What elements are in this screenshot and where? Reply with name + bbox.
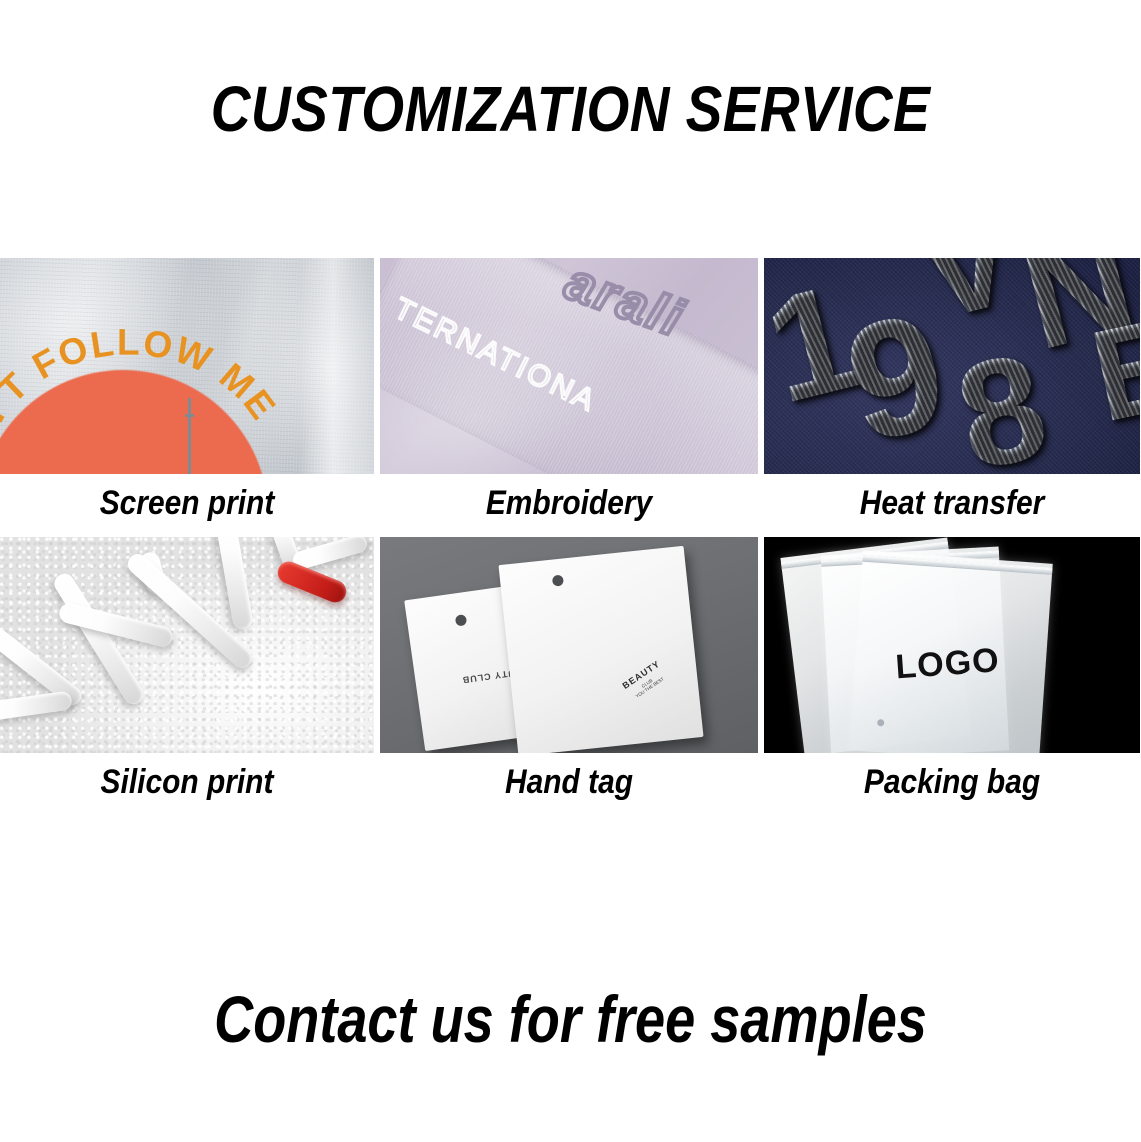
caption-packing-bag: Packing bag [787, 753, 1118, 816]
page-title: CUSTOMIZATION SERVICE [80, 76, 1061, 143]
arced-print-text: N'T FOLLOW ME [0, 310, 280, 470]
caption-embroidery: Embroidery [403, 474, 736, 537]
packing-bag-photo: LOGO [764, 537, 1140, 753]
bag-logo-text: LOGO [894, 641, 1001, 687]
caption-screen-print: Screen print [22, 474, 351, 537]
gallery-item-embroidery[interactable]: TERNATIONA arali Embroidery [380, 258, 758, 537]
footer-cta: Contact us for free samples [103, 985, 1039, 1054]
embroidered-lettering: TERNATIONA arali [380, 258, 758, 474]
embroidery-photo: TERNATIONA arali [380, 258, 758, 474]
fabric-highlight [300, 258, 374, 474]
heat-transfer-photo: V N E 1 9 8 [764, 258, 1140, 474]
gallery-item-screen-print[interactable]: N'T FOLLOW ME Screen print [0, 258, 374, 537]
hang-tag-front: BEAUTY CLUB YOU THE BEST [498, 546, 703, 753]
gallery-item-packing-bag[interactable]: LOGO Packing bag [764, 537, 1140, 816]
gallery-item-hand-tag[interactable]: BEAUTY CLUB BEAUTY CLUB YOU THE BEST Han… [380, 537, 758, 816]
caption-silicon-print: Silicon print [22, 753, 351, 816]
terry-loop-texture [0, 537, 374, 753]
bag-vent-hole-icon [877, 719, 884, 726]
customization-service-banner: CUSTOMIZATION SERVICE N'T FOLLOW ME [0, 0, 1141, 1142]
caption-heat-transfer: Heat transfer [787, 474, 1118, 537]
gallery-item-silicon-print[interactable]: Silicon print [0, 537, 374, 816]
tag-hole-icon [455, 614, 467, 626]
packing-bag-front: LOGO [849, 551, 1052, 753]
svg-text:N'T FOLLOW ME: N'T FOLLOW ME [0, 322, 280, 442]
caption-hand-tag: Hand tag [403, 753, 736, 816]
service-gallery-grid: N'T FOLLOW ME Screen print TERNATIONA ar… [0, 258, 1141, 816]
hand-tag-photo: BEAUTY CLUB BEAUTY CLUB YOU THE BEST [380, 537, 758, 753]
tag-brand-block: BEAUTY CLUB YOU THE BEST [621, 659, 670, 702]
silicon-print-photo [0, 537, 374, 753]
screen-print-photo: N'T FOLLOW ME [0, 258, 374, 474]
gallery-item-heat-transfer[interactable]: V N E 1 9 8 Heat transfer [764, 258, 1140, 537]
svg-text:arali: arali [558, 258, 692, 349]
tag-hole-icon [552, 575, 564, 587]
